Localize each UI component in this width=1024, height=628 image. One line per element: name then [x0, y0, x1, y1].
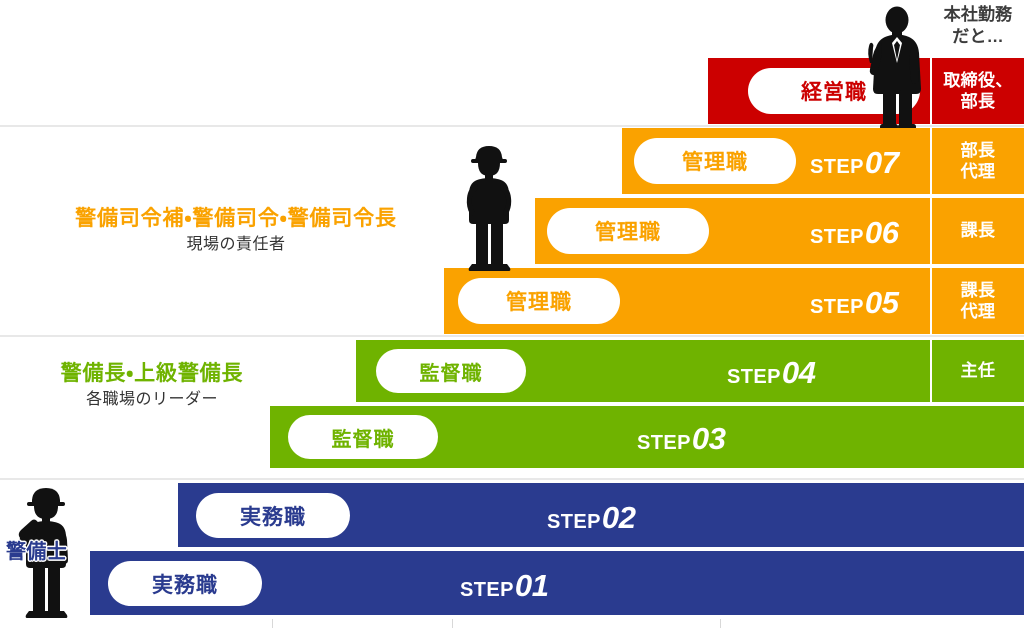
- grade-group-kanri-subtitle: 現場の責任者: [36, 233, 436, 257]
- executive-pointing-silhouette: [855, 4, 927, 130]
- career-step-chart: 本社勤務 だと… 経営職 取締役、 部長: [0, 0, 1024, 628]
- grade-group-jitsumu-title: 警備士: [6, 535, 67, 564]
- hq-header-line1: 本社勤務: [932, 4, 1024, 26]
- pill-step-03[interactable]: 監督職: [288, 415, 438, 459]
- bottom-tick-3: [720, 619, 721, 628]
- step-label-04-word: STEP: [727, 366, 781, 389]
- pill-step-03-label: 監督職: [332, 423, 395, 452]
- pill-step-01[interactable]: 実務職: [108, 561, 262, 606]
- step-label-06: STEP 06: [810, 215, 899, 251]
- bottom-tick-2: [452, 619, 453, 628]
- divider-orange-green: [0, 335, 1024, 337]
- step-label-07-number: 07: [865, 145, 899, 181]
- step-label-03: STEP 03: [637, 421, 726, 457]
- divider-green-blue: [0, 478, 1024, 480]
- step-label-05-number: 05: [865, 285, 899, 321]
- hq-column-header: 本社勤務 だと…: [932, 4, 1024, 48]
- step-label-01-word: STEP: [460, 579, 514, 602]
- step-label-03-number: 03: [692, 421, 726, 457]
- officer-standing-silhouette: [455, 142, 523, 274]
- hq-cell-step-07[interactable]: 部長 代理: [932, 128, 1024, 194]
- step-label-07: STEP 07: [810, 145, 899, 181]
- grade-group-kanri-title: 警備司令補・警備司令・警備司令長: [36, 205, 436, 233]
- pill-step-06[interactable]: 管理職: [547, 208, 709, 254]
- pill-step-05[interactable]: 管理職: [458, 278, 620, 324]
- pill-step-04[interactable]: 監督職: [376, 349, 526, 393]
- hq-cell-executive[interactable]: 取締役、 部長: [932, 58, 1024, 124]
- step-label-02-number: 02: [602, 500, 636, 536]
- pill-step-01-label: 実務職: [152, 569, 218, 599]
- pill-step-02-label: 実務職: [240, 501, 306, 531]
- pill-step-07[interactable]: 管理職: [634, 138, 796, 184]
- pill-step-02[interactable]: 実務職: [196, 493, 350, 538]
- hq-cell-step-06[interactable]: 課長: [932, 198, 1024, 264]
- step-label-01-number: 01: [515, 568, 549, 604]
- step-label-03-word: STEP: [637, 432, 691, 455]
- hq-cell-executive-line1: 取締役、: [943, 70, 1012, 91]
- grade-group-kantoku: 警備長・上級警備長 各職場のリーダー: [22, 360, 282, 412]
- step-label-07-word: STEP: [810, 156, 864, 179]
- hq-cell-step-05-line1: 課長: [961, 280, 996, 301]
- pill-step-04-label: 監督職: [420, 357, 483, 386]
- bottom-tick-1: [272, 619, 273, 628]
- step-label-02-word: STEP: [547, 511, 601, 534]
- pill-step-05-label: 管理職: [506, 286, 572, 316]
- step-label-06-number: 06: [865, 215, 899, 251]
- step-label-04-number: 04: [782, 355, 816, 391]
- hq-cell-step-05-line2: 代理: [961, 301, 996, 322]
- pill-step-07-label: 管理職: [682, 146, 748, 176]
- hq-cell-executive-line2: 部長: [961, 91, 996, 112]
- hq-cell-step-04[interactable]: 主任: [932, 340, 1024, 402]
- step-label-01: STEP 01: [460, 568, 549, 604]
- step-label-06-word: STEP: [810, 226, 864, 249]
- hq-cell-step-04-line1: 主任: [961, 360, 996, 381]
- step-label-04: STEP 04: [727, 355, 816, 391]
- hq-cell-step-05[interactable]: 課長 代理: [932, 268, 1024, 334]
- hq-cell-step-07-line1: 部長: [961, 140, 996, 161]
- grade-group-kantoku-title: 警備長・上級警備長: [22, 360, 282, 388]
- step-label-05-word: STEP: [810, 296, 864, 319]
- step-label-05: STEP 05: [810, 285, 899, 321]
- grade-group-kanri: 警備司令補・警備司令・警備司令長 現場の責任者: [36, 205, 436, 257]
- step-label-02: STEP 02: [547, 500, 636, 536]
- hq-cell-step-06-line1: 課長: [961, 220, 996, 241]
- hq-cell-step-07-line2: 代理: [961, 161, 996, 182]
- grade-group-kantoku-subtitle: 各職場のリーダー: [22, 388, 282, 412]
- hq-header-line2: だと…: [932, 26, 1024, 48]
- pill-step-06-label: 管理職: [595, 216, 661, 246]
